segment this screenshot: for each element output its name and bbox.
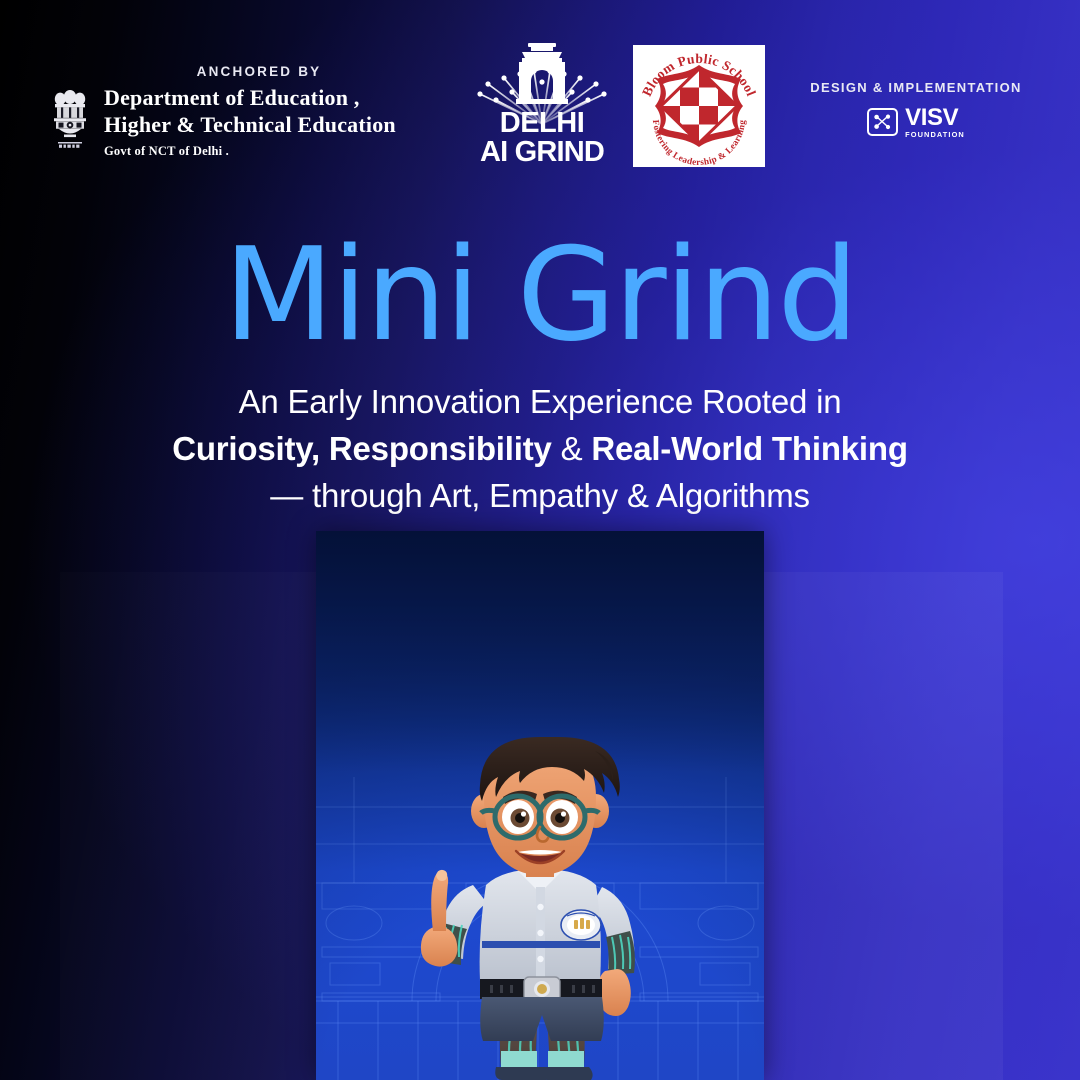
subtitle-line-3: — through Art, Empathy & Algorithms (0, 475, 1080, 517)
bloom-public-school-crest-icon: Bloom Public School Fostering Leadership… (633, 45, 765, 167)
department-line-2: Higher & Technical Education (104, 112, 414, 139)
delhi-word-line2: AI GRIND (462, 138, 622, 168)
department-line-1: Department of Education , (104, 85, 414, 112)
anchored-by-text: ANCHORED BY Department of Education , Hi… (104, 62, 414, 159)
subtitle-bold-a: Curiosity, Responsibility (172, 430, 551, 467)
subtitle-block: An Early Innovation Experience Rooted in… (0, 381, 1080, 518)
delhi-word-line1: DELHI (462, 109, 622, 139)
subtitle-line-1: An Early Innovation Experience Rooted in (0, 381, 1080, 423)
subtitle-bold-b: Real-World Thinking (591, 430, 907, 467)
design-implementation-block: DESIGN & IMPLEMENTATION (798, 80, 1034, 138)
delhi-ai-grind-logo: DELHI AI GRIND (462, 38, 622, 168)
design-implementation-label: DESIGN & IMPLEMENTATION (798, 80, 1034, 95)
bloom-public-school-logo: Bloom Public School Fostering Leadership… (633, 45, 765, 167)
poster-root: ANCHORED BY Department of Education , Hi… (0, 0, 1080, 1080)
anchored-by-label: ANCHORED BY (104, 64, 414, 79)
subtitle-ampersand: & (552, 430, 592, 467)
visv-brand-sub: FOUNDATION (905, 131, 965, 138)
anchored-by-block: ANCHORED BY Department of Education , Hi… (48, 62, 414, 159)
visv-logo: VISV FOUNDATION (798, 106, 1034, 138)
govt-line: Govt of NCT of Delhi . (104, 144, 414, 159)
subtitle-line-2: Curiosity, Responsibility & Real-World T… (0, 428, 1080, 470)
visv-network-nodes-icon (867, 108, 898, 136)
delhi-ai-grind-wordmark: DELHI AI GRIND (462, 109, 622, 168)
schoolboy-mascot-illustration-icon (340, 735, 740, 1080)
ashoka-lion-capital-emblem-icon (48, 84, 92, 152)
page-title: Mini Grind (0, 232, 1080, 360)
poster-header: ANCHORED BY Department of Education , Hi… (0, 0, 1080, 185)
visv-brand: VISV (905, 106, 965, 130)
mascot-photo-panel (316, 531, 764, 1080)
visv-wordmark: VISV FOUNDATION (905, 106, 965, 138)
